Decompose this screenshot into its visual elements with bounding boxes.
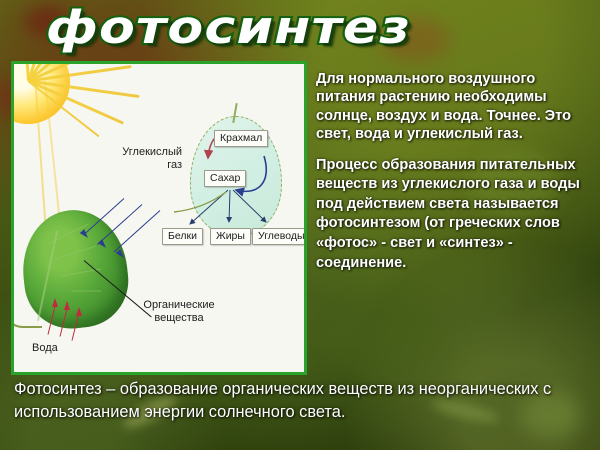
title-bar: фотосинтез xyxy=(0,0,600,62)
paragraph-2: Процесс образования питательных веществ … xyxy=(316,156,598,274)
slide-root: фотосинтез xyxy=(0,0,600,450)
organic-label-line1: Органические xyxy=(143,299,214,311)
water-arrow-tip xyxy=(64,301,70,310)
bottom-caption: Фотосинтез – образование органических ве… xyxy=(14,378,590,423)
diagram-canvas: Углекислый газ Вода Органические веществ… xyxy=(14,64,304,372)
water-arrow-tip xyxy=(76,307,82,316)
leaf-stalk xyxy=(11,304,42,328)
water-arrow-tip xyxy=(52,298,58,307)
carbon-dioxide-label: Углекислый газ xyxy=(98,146,182,172)
sun-icon xyxy=(11,61,78,132)
leaf-vein xyxy=(54,246,96,261)
leaf-vein xyxy=(71,291,101,292)
page-title: фотосинтез xyxy=(46,2,411,54)
background-blob xyxy=(330,300,450,380)
water-label: Вода xyxy=(32,342,58,355)
carbohydrates-box: Углеводы xyxy=(252,228,307,245)
starch-box: Крахмал xyxy=(214,130,268,147)
text-panel: Для нормального воздушного питания расте… xyxy=(316,70,598,285)
carbon-dioxide-arrow xyxy=(114,210,161,252)
paragraph-1: Для нормального воздушного питания расте… xyxy=(316,70,598,144)
carbon-dioxide-label-line2: газ xyxy=(167,159,182,171)
proteins-box: Белки xyxy=(162,228,203,245)
organic-label-line2: вещества xyxy=(154,312,203,324)
organic-substances-label: Органические вещества xyxy=(124,299,234,325)
carbon-dioxide-label-line1: Углекислый xyxy=(122,146,182,158)
fats-box: Жиры xyxy=(210,228,251,245)
diagram-panel: Углекислый газ Вода Органические веществ… xyxy=(11,61,307,375)
sugar-box: Сахар xyxy=(204,170,246,187)
